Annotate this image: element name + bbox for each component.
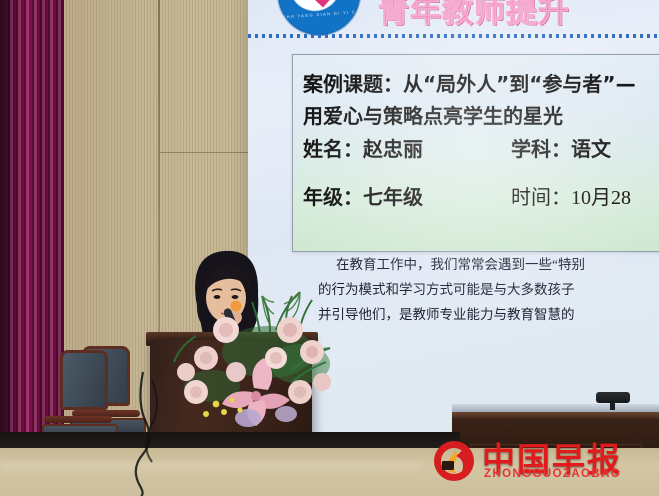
subject-label: 学科： — [511, 137, 571, 161]
chair-armrest — [44, 416, 112, 423]
case-topic-line-2: 用爱心与策略点亮学生的星光 — [303, 100, 563, 129]
floor-reflection — [0, 462, 420, 474]
school-crest-logo: SHA YANG XIAN DI YI CHU JI ZHONG XUE — [277, 0, 361, 36]
slide-dotted-divider — [248, 34, 659, 38]
slide-header-title: 青年教师提升 — [378, 0, 570, 31]
time-field: 时间：10月28 — [511, 181, 631, 210]
presenter-name-label: 姓名： — [303, 137, 363, 161]
subject-field: 学科：语文 — [511, 133, 611, 162]
flame-logo-icon — [432, 439, 476, 483]
presenter-name-field: 姓名：赵忠丽 — [303, 133, 423, 162]
news-watermark: 中国早报 ZHONGGUOZAOBAO — [432, 437, 652, 485]
slide-body-paragraph: 在教育工作中，我们常常会遇到一些“特别 的行为模式和学习方式可能是与大多数孩子 … — [318, 252, 659, 327]
subject-value: 语文 — [571, 137, 611, 161]
case-topic-line-1: 案例课题：从“局外人”到“参与者”— — [303, 68, 636, 97]
grade-label: 年级： — [303, 185, 363, 209]
microphone-stem — [610, 402, 615, 410]
stage-curtain — [8, 0, 64, 452]
grade-field: 年级：七年级 — [303, 181, 423, 210]
time-value: 10月28 — [571, 187, 631, 209]
paragraph-line-1: 在教育工作中，我们常常会遇到一些“特别 — [318, 252, 659, 277]
desk-microphone — [596, 392, 630, 408]
presenter-name-value: 赵忠丽 — [363, 137, 423, 161]
grade-value: 七年级 — [363, 185, 423, 209]
paragraph-line-2: 的行为模式和学习方式可能是与大多数孩子 — [318, 277, 659, 302]
screenshot-stage: SHA YANG XIAN DI YI CHU JI ZHONG XUE 青年教… — [0, 0, 659, 496]
paragraph-line-3: 并引导他们，是教师专业能力与教育智慧的 — [318, 302, 659, 327]
slide-content-box: 案例课题：从“局外人”到“参与者”— 用爱心与策略点亮学生的星光 姓名：赵忠丽 … — [292, 54, 659, 252]
chair-backrest — [60, 350, 108, 410]
time-label: 时间： — [511, 187, 571, 209]
watermark-pinyin-text: ZHONGGUOZAOBAO — [484, 468, 621, 480]
